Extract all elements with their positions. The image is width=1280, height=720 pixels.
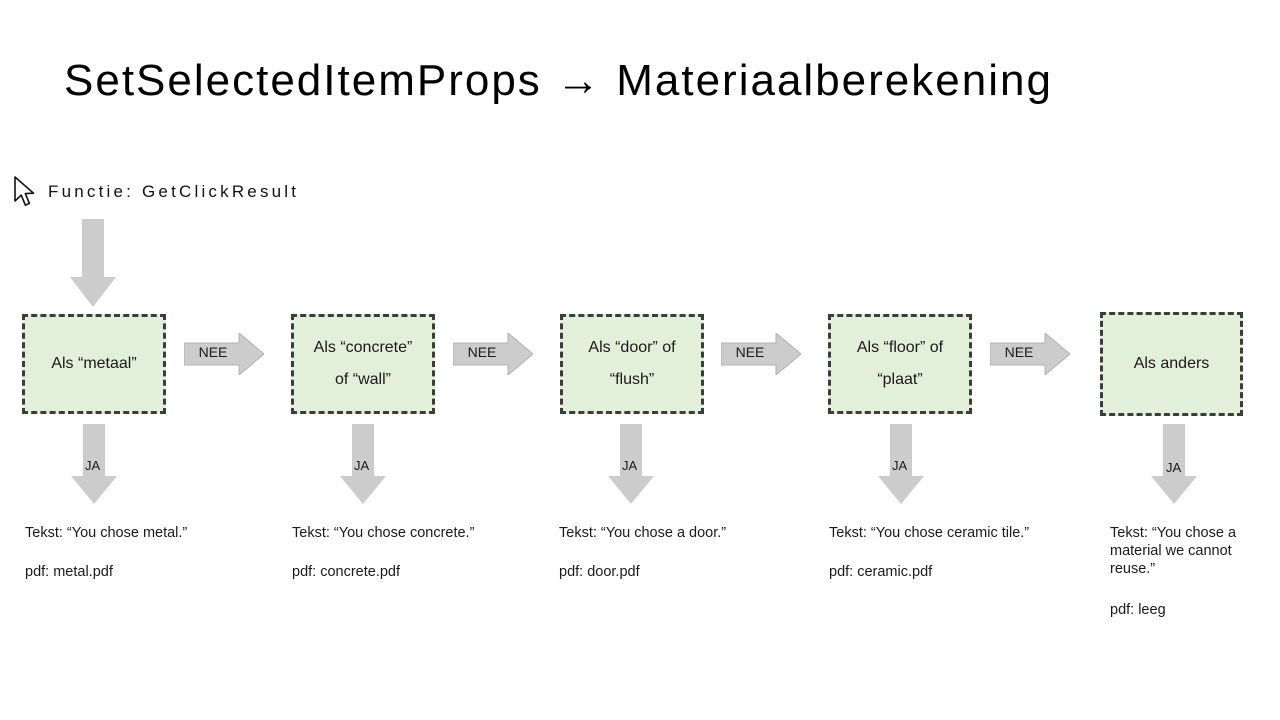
slide-canvas: SetSelectedItemProps → Materiaalberekeni… [0,0,1280,720]
decision-box-metaal[interactable]: Als “metaal” [22,314,166,414]
result-pdf: pdf: concrete.pdf [292,563,474,582]
result-block-concrete-wall: Tekst: “You chose concrete.” pdf: concre… [292,524,474,581]
decision-box-concrete-wall[interactable]: Als “concrete” of “wall” [291,314,435,414]
decision-line: Als anders [1134,356,1210,372]
function-label: Functie: GetClickResult [48,182,299,202]
mouse-pointer-icon [12,175,38,209]
result-text: Tekst: “You chose a door.” [559,524,726,543]
decision-line: “flush” [610,372,654,388]
yes-label-anders: JA [1166,460,1181,475]
decision-line: Als “metaal” [51,356,136,372]
yes-label-door-flush: JA [622,458,637,473]
result-text: Tekst: “You chose metal.” [25,524,187,543]
decision-box-door-flush[interactable]: Als “door” of “flush” [560,314,704,414]
result-text: Tekst: “You chose concrete.” [292,524,474,543]
no-arrow-concrete-wall: NEE [453,333,533,375]
result-pdf: pdf: ceramic.pdf [829,563,1029,582]
decision-line: Als “floor” of [857,340,943,356]
yes-label-floor-plaat: JA [892,458,907,473]
decision-line: Als “door” of [588,340,675,356]
result-text: Tekst: “You chose ceramic tile.” [829,524,1029,543]
result-pdf: pdf: leeg [1110,601,1260,620]
function-label-row: Functie: GetClickResult [12,175,299,209]
result-text: Tekst: “You chose a material we cannot r… [1110,524,1260,578]
entry-arrow-down [70,219,116,309]
result-pdf: pdf: metal.pdf [25,563,187,582]
decision-line: Als “concrete” [314,340,413,356]
result-block-metaal: Tekst: “You chose metal.” pdf: metal.pdf [25,524,187,581]
page-title: SetSelectedItemProps → Materiaalberekeni… [64,56,1053,106]
no-arrow-floor-plaat: NEE [990,333,1070,375]
result-pdf: pdf: door.pdf [559,563,726,582]
yes-label-concrete-wall: JA [354,458,369,473]
no-arrow-door-flush: NEE [721,333,801,375]
decision-box-floor-plaat[interactable]: Als “floor” of “plaat” [828,314,972,414]
no-arrow-metaal: NEE [184,333,264,375]
result-block-anders: Tekst: “You chose a material we cannot r… [1110,524,1260,620]
result-block-door-flush: Tekst: “You chose a door.” pdf: door.pdf [559,524,726,581]
result-block-floor-plaat: Tekst: “You chose ceramic tile.” pdf: ce… [829,524,1029,581]
yes-label-metaal: JA [85,458,100,473]
decision-line: “plaat” [877,372,922,388]
decision-box-anders[interactable]: Als anders [1100,312,1243,416]
decision-line: of “wall” [335,372,391,388]
